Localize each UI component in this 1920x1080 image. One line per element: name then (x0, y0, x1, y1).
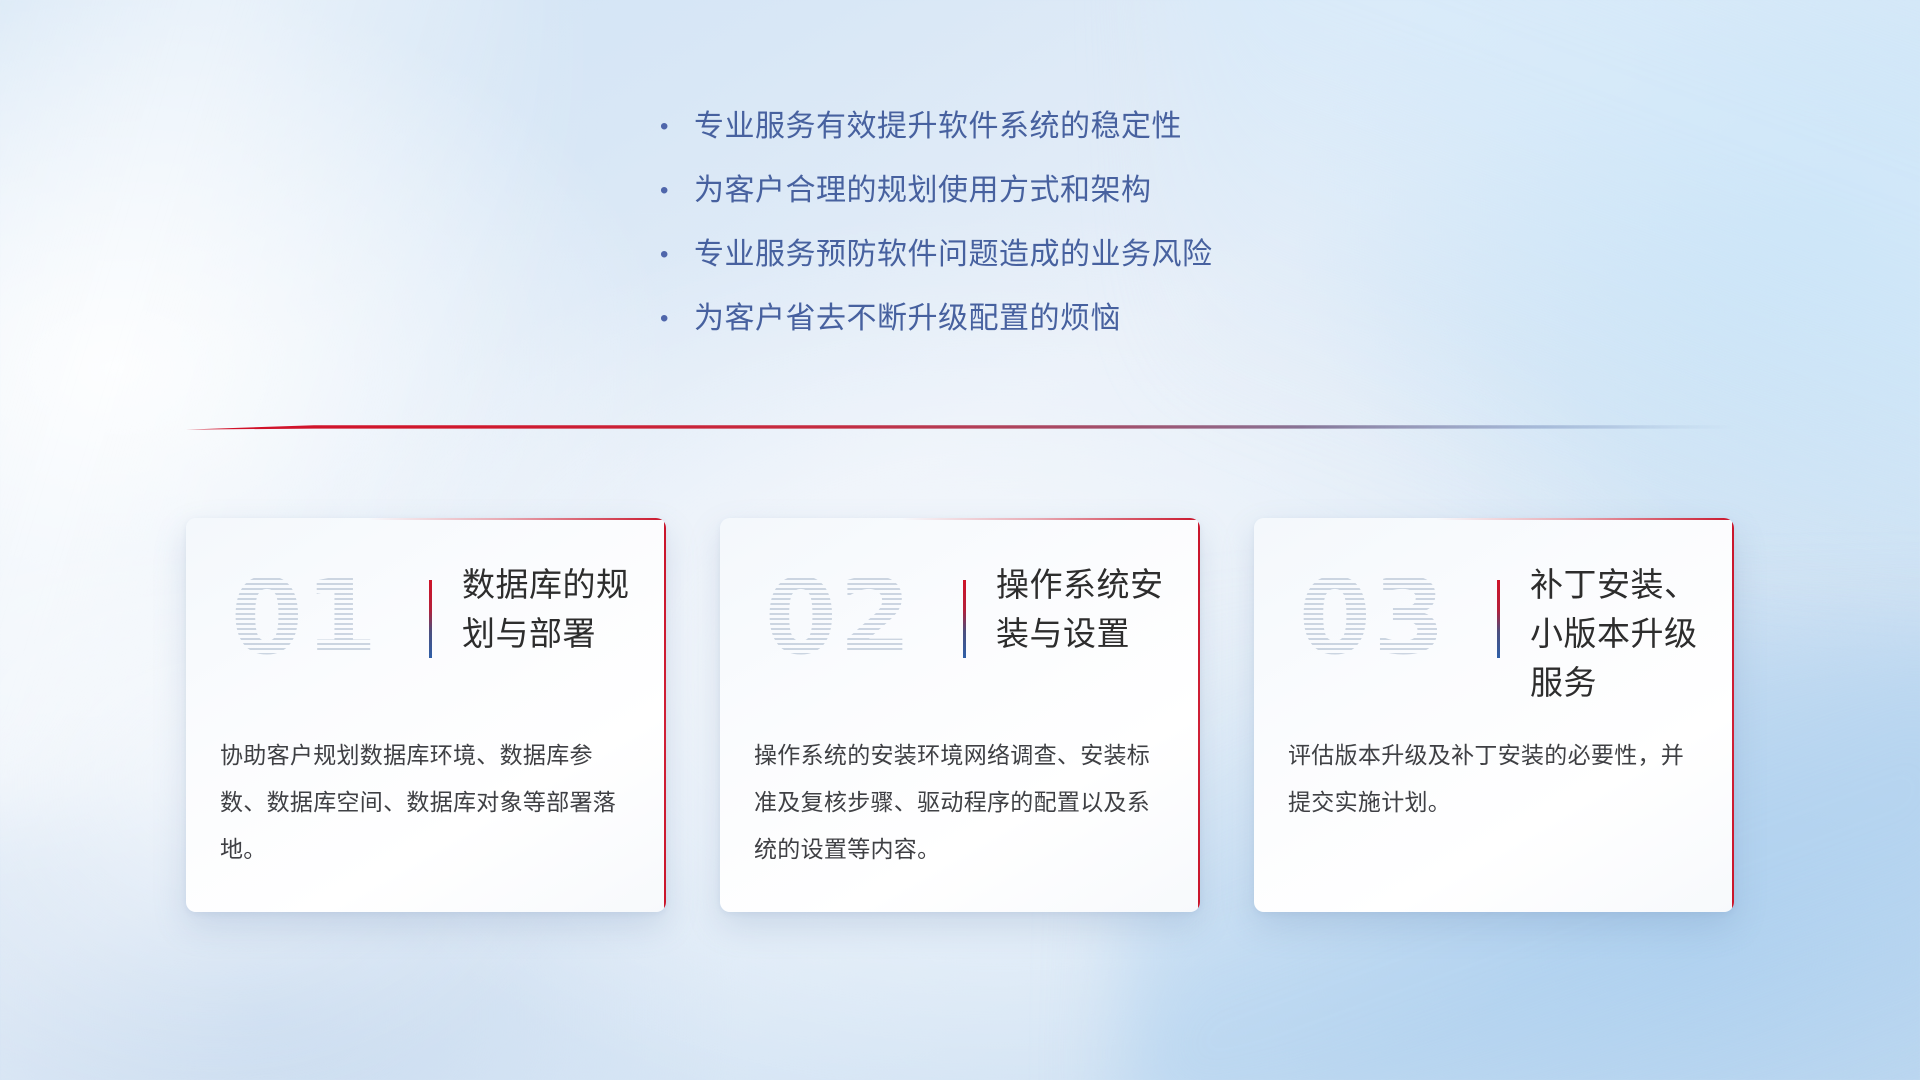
card-header: 01 数据库的规划与部署 (186, 518, 666, 714)
card-header: 03 补丁安装、小版本升级服务 (1254, 518, 1734, 714)
card-title-rule (1497, 580, 1500, 658)
bullet-dot-icon: • (660, 168, 694, 214)
service-card[interactable]: 01 数据库的规划与部署 协助客户规划数据库环境、数据库参数、数据库空间、数据库… (186, 518, 666, 912)
divider-shape (186, 418, 1734, 436)
card-title-rule (963, 580, 966, 658)
bullet-dot-icon: • (660, 296, 694, 342)
card-title: 数据库的规划与部署 (462, 560, 652, 658)
bullet-text: 专业服务有效提升软件系统的稳定性 (694, 104, 1182, 150)
service-card[interactable]: 03 补丁安装、小版本升级服务 评估版本升级及补丁安装的必要性，并提交实施计划。 (1254, 518, 1734, 912)
bullet-text: 专业服务预防软件问题造成的业务风险 (694, 232, 1213, 278)
service-card-list: 01 数据库的规划与部署 协助客户规划数据库环境、数据库参数、数据库空间、数据库… (186, 518, 1734, 912)
bullet-text: 为客户合理的规划使用方式和架构 (694, 168, 1152, 214)
bullet-text: 为客户省去不断升级配置的烦恼 (694, 296, 1121, 342)
benefits-bullet-list: • 专业服务有效提升软件系统的稳定性 • 为客户合理的规划使用方式和架构 • 专… (660, 104, 1480, 360)
card-title-rule (429, 580, 432, 658)
card-body-text: 评估版本升级及补丁安装的必要性，并提交实施计划。 (1288, 732, 1706, 826)
bullet-dot-icon: • (660, 232, 694, 278)
service-card[interactable]: 02 操作系统安装与设置 操作系统的安装环境网络调查、安装标准及复核步骤、驱动程… (720, 518, 1200, 912)
list-item: • 专业服务有效提升软件系统的稳定性 (660, 104, 1480, 168)
card-number-watermark: 03 (1288, 558, 1458, 676)
card-title: 补丁安装、小版本升级服务 (1530, 560, 1720, 707)
list-item: • 为客户合理的规划使用方式和架构 (660, 168, 1480, 232)
bullet-dot-icon: • (660, 104, 694, 150)
list-item: • 专业服务预防软件问题造成的业务风险 (660, 232, 1480, 296)
section-divider (186, 418, 1734, 436)
card-body-text: 协助客户规划数据库环境、数据库参数、数据库空间、数据库对象等部署落地。 (220, 732, 638, 873)
card-title: 操作系统安装与设置 (996, 560, 1186, 658)
card-number-watermark: 02 (754, 558, 924, 676)
card-body-text: 操作系统的安装环境网络调查、安装标准及复核步骤、驱动程序的配置以及系统的设置等内… (754, 732, 1172, 873)
list-item: • 为客户省去不断升级配置的烦恼 (660, 296, 1480, 360)
card-number-watermark: 01 (220, 558, 390, 676)
card-header: 02 操作系统安装与设置 (720, 518, 1200, 714)
